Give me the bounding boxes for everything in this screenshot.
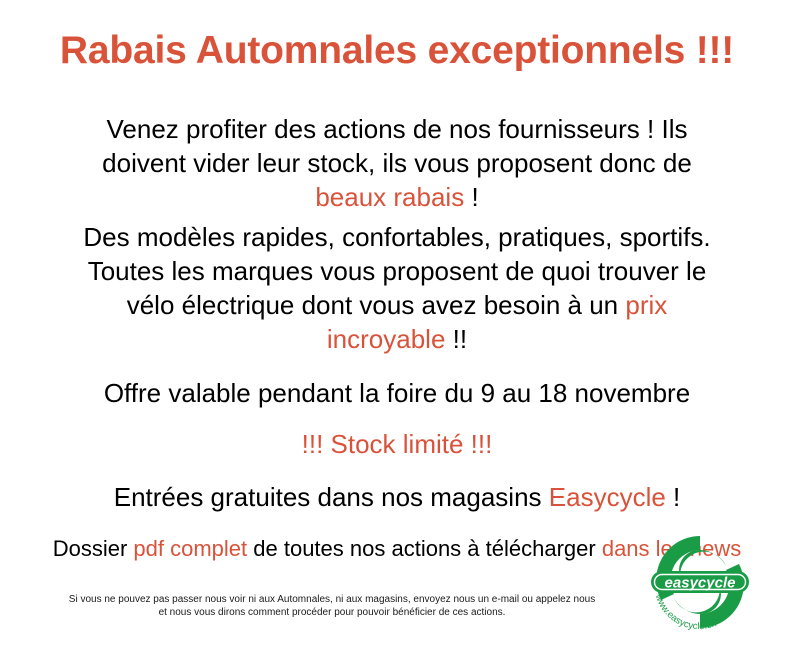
flyer-page: Rabais Automnales exceptionnels !!! Vene… xyxy=(0,0,794,650)
offer-validity-line: Offre valable pendant la foire du 9 au 1… xyxy=(0,376,794,410)
paragraph-suppliers-line2: doivent vider leur stock, ils vous propo… xyxy=(102,148,692,178)
free-entry-lead: Entrées gratuites dans nos magasins xyxy=(114,482,549,512)
free-entry-line: Entrées gratuites dans nos magasins Easy… xyxy=(0,480,794,514)
logo-wordmark-text: easycycle xyxy=(665,575,736,592)
free-entry-tail: ! xyxy=(666,482,680,512)
highlight-prix: prix xyxy=(625,290,667,320)
pdf-line-lead: Dossier xyxy=(53,536,134,561)
footer-disclaimer-line1: Si vous ne pouvez pas passer nous voir n… xyxy=(69,594,595,605)
logo-wordmark: easycycle xyxy=(651,571,749,593)
easycycle-logo: easycycle www.easycycle.ch xyxy=(646,528,754,636)
paragraph-suppliers-line1: Venez profiter des actions de nos fourni… xyxy=(107,114,688,144)
limited-stock-line: !!! Stock limité !!! xyxy=(0,427,794,461)
link-pdf-complet[interactable]: pdf complet xyxy=(133,536,247,561)
paragraph-suppliers-tail: ! xyxy=(464,182,478,212)
paragraph-suppliers: Venez profiter des actions de nos fourni… xyxy=(0,112,794,214)
highlight-incroyable: incroyable xyxy=(327,324,446,354)
paragraph-models: Des modèles rapides, confortables, prati… xyxy=(0,220,794,356)
highlight-beaux-rabais: beaux rabais xyxy=(315,182,464,212)
paragraph-models-tail: !! xyxy=(445,324,467,354)
footer-disclaimer: Si vous ne pouvez pas passer nous voir n… xyxy=(32,593,632,619)
paragraph-models-line3-lead: vélo électrique dont vous avez besoin à … xyxy=(127,290,626,320)
body-content: Venez profiter des actions de nos fourni… xyxy=(0,112,794,563)
page-title: Rabais Automnales exceptionnels !!! xyxy=(0,27,794,74)
footer-disclaimer-line2: et nous vous dirons comment procéder pou… xyxy=(159,607,506,618)
highlight-easycycle: Easycycle xyxy=(549,482,666,512)
paragraph-models-line1: Des modèles rapides, confortables, prati… xyxy=(83,222,710,252)
paragraph-models-line2: Toutes les marques vous proposent de quo… xyxy=(88,256,707,286)
pdf-line-middle: de toutes nos actions à télécharger xyxy=(247,536,602,561)
